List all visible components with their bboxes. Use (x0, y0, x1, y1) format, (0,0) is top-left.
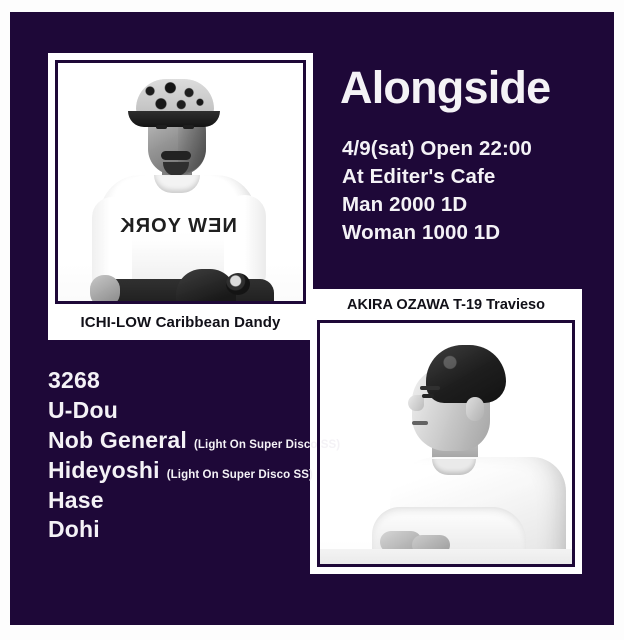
photo-frame-left: NEW YORK (55, 60, 306, 304)
shirt-text: NEW YORK (118, 215, 238, 238)
mustache (161, 151, 191, 160)
photo-akira-ozawa (320, 323, 572, 564)
lineup-item: Hase (48, 486, 340, 516)
wristwatch (226, 273, 250, 295)
table-surface (320, 549, 572, 564)
lineup-item: Dohi (48, 515, 340, 545)
lineup-item: Hideyoshi (Light On Super Disco SS) (48, 456, 340, 486)
detail-venue: At Editer's Cafe (342, 163, 532, 191)
cap-brim (128, 111, 220, 127)
photo-card-left: NEW YORK ICHI-LOW Caribbean Dandy (48, 53, 313, 340)
photo-card-right: AKIRA OZAWA T-19 Travieso (310, 289, 582, 574)
ear (466, 397, 484, 421)
lineup-item: U-Dou (48, 396, 340, 426)
detail-date-open: 4/9(sat) Open 22:00 (342, 135, 532, 163)
hair (426, 345, 506, 403)
event-title: Alongside (340, 65, 550, 110)
detail-price-man: Man 2000 1D (342, 191, 532, 219)
eye (422, 394, 434, 398)
photo-caption-left: ICHI-LOW Caribbean Dandy (55, 304, 306, 340)
lineup-artist-name: Dohi (48, 515, 100, 545)
lineup-artist-name: 3268 (48, 366, 100, 396)
photo-frame-right (317, 320, 575, 567)
lineup-artist-affiliation: (Light On Super Disco SS) (194, 438, 340, 453)
lineup-artist-name: U-Dou (48, 396, 118, 426)
mouth (412, 421, 428, 425)
lineup-artist-name: Hideyoshi (48, 456, 160, 486)
photo-caption-right: AKIRA OZAWA T-19 Travieso (317, 289, 575, 320)
lineup-artist-name: Nob General (48, 426, 187, 456)
hand (90, 275, 120, 301)
flyer-canvas: NEW YORK ICHI-LOW Caribbean Dandy AKIRA … (10, 12, 614, 625)
flyer-root: NEW YORK ICHI-LOW Caribbean Dandy AKIRA … (0, 0, 624, 640)
left-eye (156, 125, 167, 129)
event-details: 4/9(sat) Open 22:00 At Editer's Cafe Man… (342, 135, 532, 247)
lineup-item: Nob General (Light On Super Disco SS) (48, 426, 340, 456)
lineup-artist-name: Hase (48, 486, 104, 516)
photo-ichi-low: NEW YORK (58, 63, 303, 301)
eyebrow (420, 386, 440, 390)
lineup-artist-affiliation: (Light On Super Disco SS) (167, 468, 313, 483)
lineup-item: 3268 (48, 366, 340, 396)
lineup-list: 3268 U-Dou Nob General (Light On Super D… (48, 366, 340, 545)
detail-price-woman: Woman 1000 1D (342, 219, 532, 247)
right-eye (183, 125, 194, 129)
